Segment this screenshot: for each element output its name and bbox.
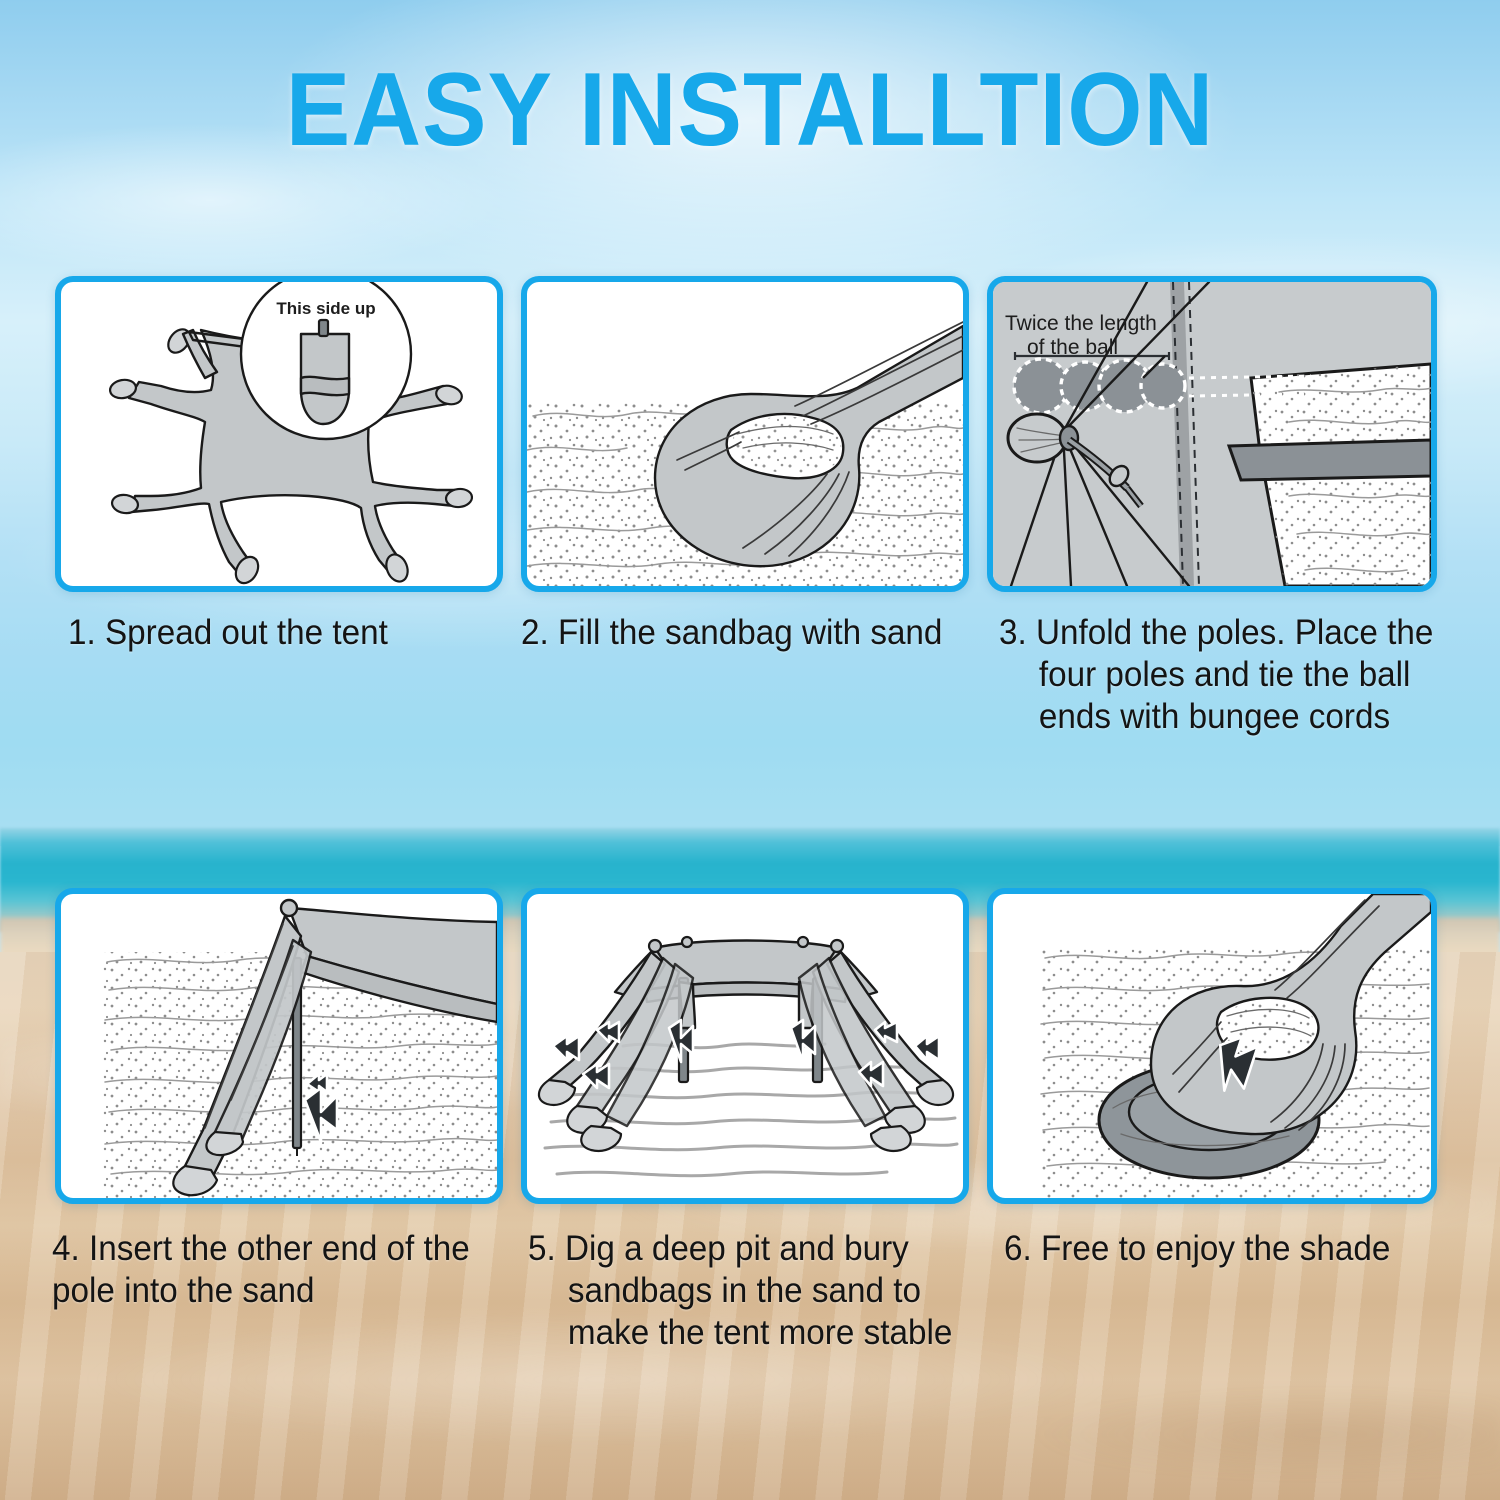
caption-line: pole into the sand	[52, 1270, 508, 1312]
step-caption-5: 5. Dig a deep pit and bury sandbags in t…	[528, 1228, 956, 1354]
step-caption-2: 2. Fill the sandbag with sand	[521, 612, 968, 654]
inset-label-this-side-up: This side up	[276, 299, 375, 318]
step-illustration-3: Twice the length of the ball	[987, 276, 1437, 592]
caption-line: 4. Insert the other end of the	[52, 1228, 508, 1270]
caption-line: four poles and tie the ball	[999, 654, 1455, 696]
caption-line: 6. Free to enjoy the shade	[1004, 1228, 1451, 1270]
step-illustration-2	[521, 276, 969, 592]
step-illustration-6	[987, 888, 1437, 1204]
step-caption-4: 4. Insert the other end of the pole into…	[52, 1228, 508, 1312]
step-illustration-4	[55, 888, 503, 1204]
caption-line: 5. Dig a deep pit and bury	[528, 1228, 956, 1270]
inset-label-of-the-ball: of the ball	[1027, 336, 1118, 359]
caption-line: 3. Unfold the poles. Place the	[999, 612, 1455, 654]
page-title: EASY INSTALLTION	[53, 56, 1448, 165]
inset-label-twice-length: Twice the length	[1005, 312, 1157, 335]
step-caption-3: 3. Unfold the poles. Place the four pole…	[999, 612, 1455, 738]
caption-line: make the tent more stable	[528, 1312, 956, 1354]
caption-line: 2. Fill the sandbag with sand	[521, 612, 968, 654]
step-illustration-5	[521, 888, 969, 1204]
step-caption-6: 6. Free to enjoy the shade	[1004, 1228, 1451, 1270]
caption-line: ends with bungee cords	[999, 696, 1455, 738]
caption-line: sandbags in the sand to	[528, 1270, 956, 1312]
caption-line: 1. Spread out the tent	[68, 612, 496, 654]
step-caption-1: 1. Spread out the tent	[68, 612, 496, 654]
step-illustration-1: This side up	[55, 276, 503, 592]
